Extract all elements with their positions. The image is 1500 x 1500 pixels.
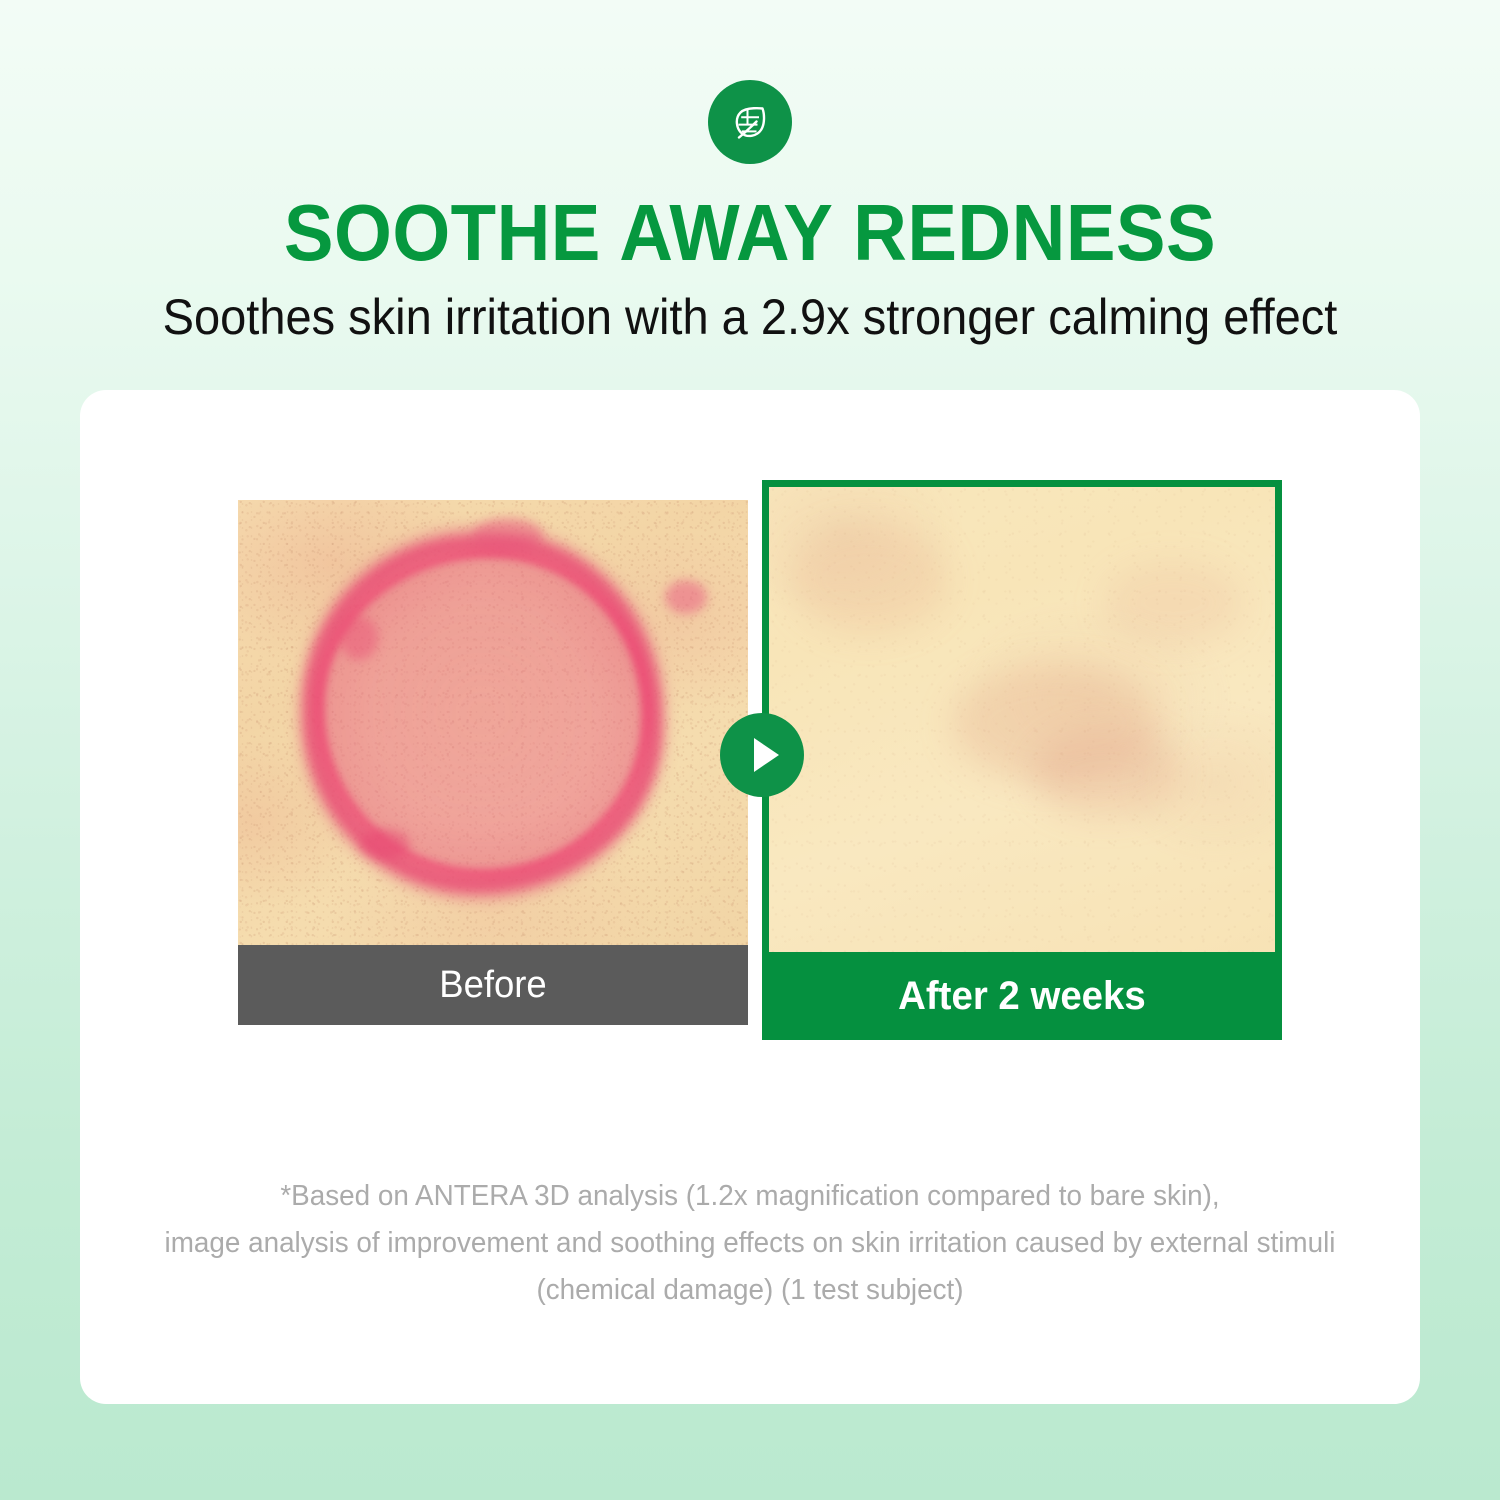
after-skin-image (769, 487, 1275, 952)
leaf-badge (708, 80, 792, 164)
footnote: *Based on ANTERA 3D analysis (1.2x magni… (80, 1173, 1420, 1314)
after-caption-label: After 2 weeks (898, 974, 1146, 1019)
residual-blush (789, 524, 949, 634)
after-caption-bar: After 2 weeks (769, 952, 1275, 1040)
footnote-line-1: *Based on ANTERA 3D analysis (1.2x magni… (107, 1173, 1393, 1220)
page-title: SOOTHE AWAY REDNESS (53, 192, 1448, 274)
before-skin-image (238, 500, 748, 945)
redness-spot (340, 616, 378, 660)
redness-spot (665, 580, 707, 614)
before-caption-bar: Before (238, 945, 748, 1025)
residual-blush (1032, 729, 1182, 817)
residual-blush (1103, 561, 1243, 645)
play-arrow-icon[interactable] (720, 713, 804, 797)
header: SOOTHE AWAY REDNESS Soothes skin irritat… (0, 0, 1500, 345)
content-card: Before After 2 weeks *Based on ANTERA 3D… (80, 390, 1420, 1404)
arrow-triangle (754, 738, 779, 772)
redness-ring-inner (315, 549, 652, 878)
redness-spot (473, 518, 543, 552)
after-panel: After 2 weeks (762, 480, 1282, 1040)
leaf-icon (726, 98, 774, 146)
page-subtitle: Soothes skin irritation with a 2.9x stro… (45, 290, 1455, 345)
before-caption-label: Before (439, 964, 546, 1007)
before-panel: Before (238, 500, 748, 1025)
footnote-line-2: image analysis of improvement and soothi… (107, 1220, 1393, 1267)
footnote-line-3: (chemical damage) (1 test subject) (107, 1267, 1393, 1314)
